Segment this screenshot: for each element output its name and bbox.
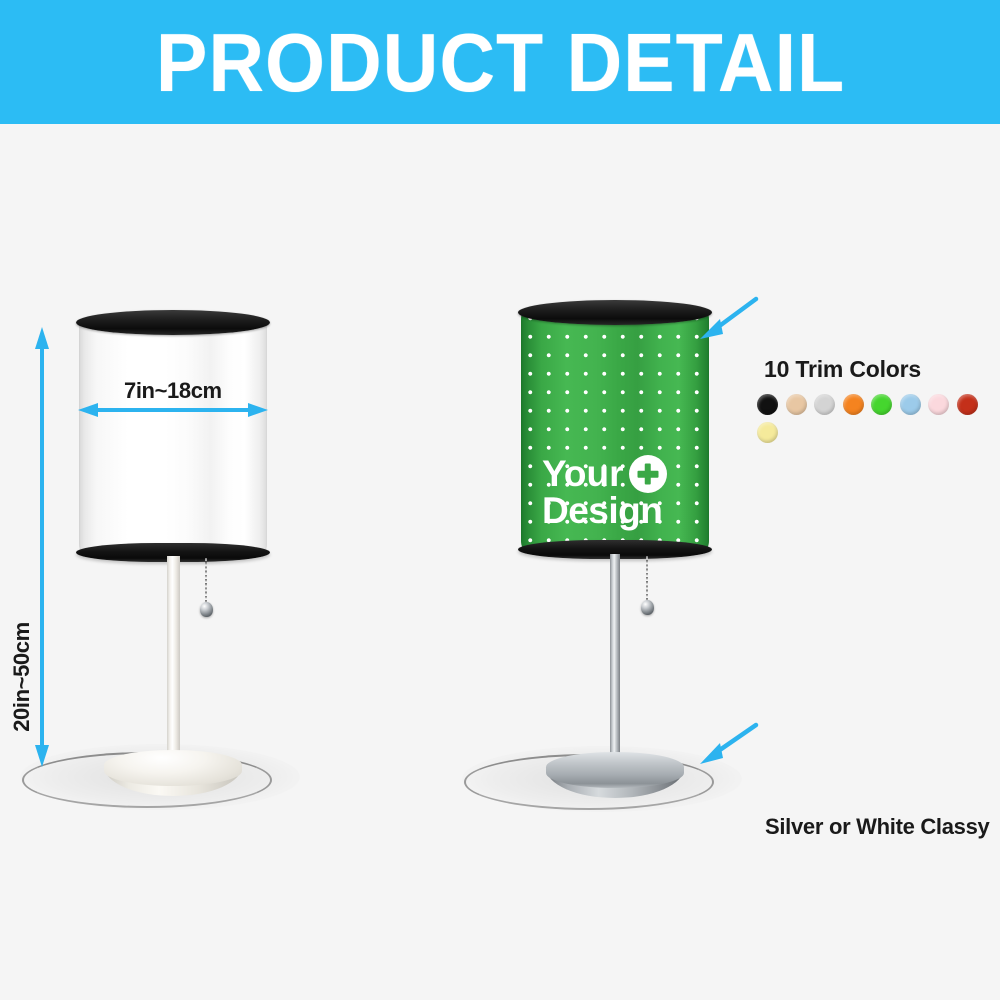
white-base-top [104, 750, 242, 786]
trim-swatch-black[interactable] [757, 394, 778, 415]
header-banner: PRODUCT DETAIL [0, 0, 1000, 124]
white-lamp-pull-chain [205, 558, 207, 606]
trim-swatch-green[interactable] [871, 394, 892, 415]
base-finish-label: Silver or White Classy [765, 814, 990, 840]
width-dimension-label: 7in~18cm [124, 378, 222, 404]
trim-colors-title: 10 Trim Colors [764, 356, 921, 383]
trim-callout-arrow [700, 294, 760, 342]
trim-swatch-row-2 [757, 422, 1000, 443]
white-lamp-chain-knob[interactable] [200, 602, 213, 617]
green-lamp: Your Design [440, 124, 770, 884]
silver-base-top [546, 752, 684, 788]
green-shade-top-trim [518, 300, 712, 325]
white-lamp-stem [167, 556, 180, 778]
height-dimension-label: 20in~50cm [9, 622, 35, 732]
green-lamp-base [546, 752, 684, 802]
trim-swatch-tan[interactable] [786, 394, 807, 415]
page-title: PRODUCT DETAIL [155, 21, 844, 104]
product-illustration-stage: Your Design 7in~18cm 20in~50cm [0, 124, 1000, 1000]
green-lamp-stem [610, 554, 620, 780]
trim-swatch-orange[interactable] [843, 394, 864, 415]
green-lamp-pull-chain [646, 556, 648, 604]
trim-swatch-row-1 [757, 394, 1000, 415]
green-shade-surface [521, 309, 709, 551]
trim-swatch-pink[interactable] [928, 394, 949, 415]
green-lamp-chain-knob[interactable] [641, 600, 654, 615]
width-dimension-arrow [78, 402, 268, 418]
white-lamp-shade [79, 319, 267, 554]
white-shade-top-trim [76, 310, 270, 335]
green-lamp-shade: Your Design [521, 309, 709, 551]
trim-swatch-dark-red[interactable] [957, 394, 978, 415]
trim-swatch-pale-yellow[interactable] [757, 422, 778, 443]
height-dimension-arrow [34, 327, 50, 767]
white-lamp-base [104, 750, 242, 800]
trim-swatch-light-gray[interactable] [814, 394, 835, 415]
white-shade-surface [79, 319, 267, 554]
trim-swatch-light-blue[interactable] [900, 394, 921, 415]
base-finish-callout-arrow [698, 720, 760, 768]
trim-color-swatches [757, 394, 1000, 450]
